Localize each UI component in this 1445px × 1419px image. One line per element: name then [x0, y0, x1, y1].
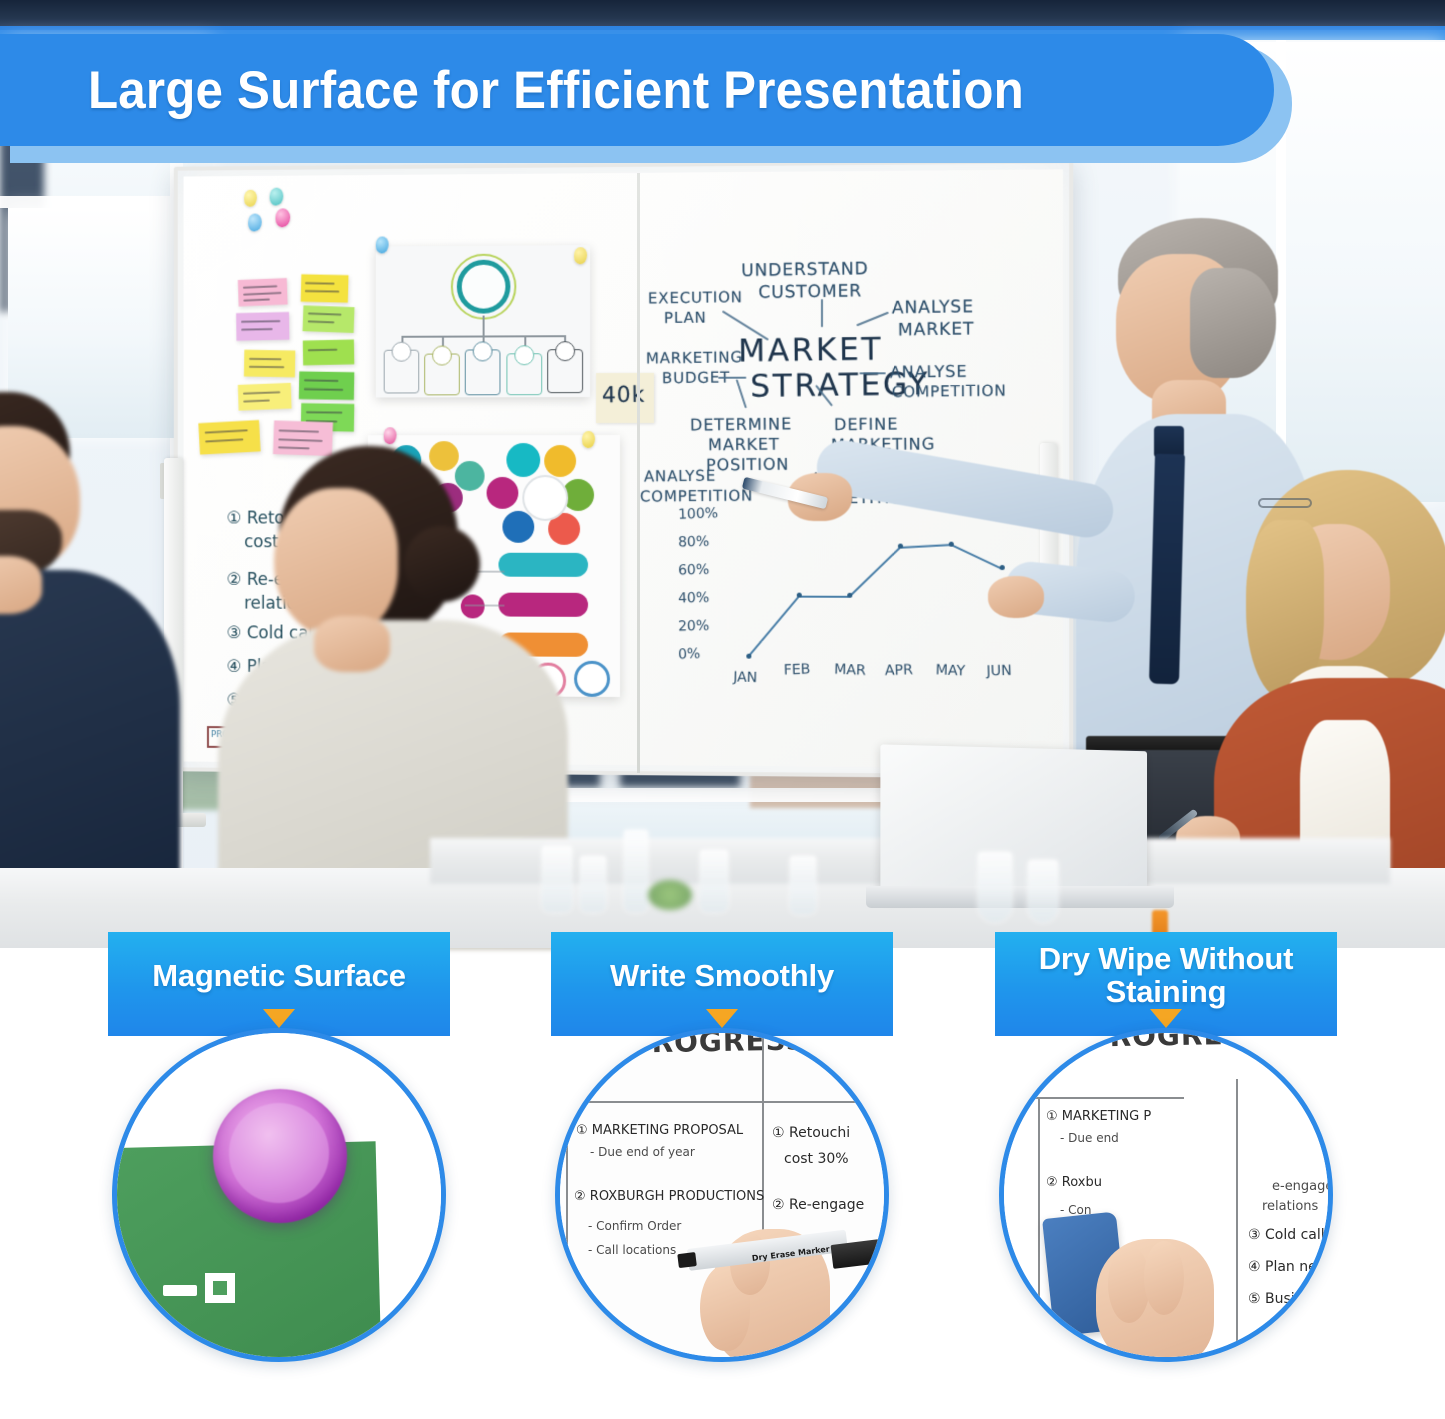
- eyeglasses-icon: [1258, 498, 1312, 508]
- chart-x-tick: MAY: [935, 662, 965, 679]
- water-bottle: [624, 830, 648, 912]
- chart-y-tick: 100%: [678, 505, 719, 522]
- chart-data-point: [746, 653, 751, 658]
- mindmap-node-determine-line1: DETERMINE: [690, 414, 792, 434]
- down-triangle-icon: [1150, 1009, 1182, 1028]
- write-line-2: - Due end of year: [590, 1145, 695, 1159]
- mindmap-node-analyse-market-line2: MARKET: [898, 319, 975, 340]
- sticky-note: [299, 371, 355, 400]
- chart-x-tick: APR: [884, 662, 913, 679]
- mindmap-node-marketing-budget-line1: MARKETING: [646, 348, 743, 367]
- mindmap-node-determine-line3: POSITION: [706, 455, 789, 475]
- mindmap-link-budget: [718, 377, 746, 379]
- erase-right-line-5: ⑤ Busin: [1248, 1291, 1304, 1307]
- magnet-pin-teal: [270, 188, 284, 206]
- wine-glass: [978, 852, 1012, 922]
- feature-dry-wipe: Dry Wipe Without Staining PROGRESS ① MAR…: [995, 932, 1337, 1036]
- orgchart-card-icon: [514, 345, 534, 365]
- table-rule-left-edge: [1038, 1097, 1040, 1362]
- whiteboard-panel-divider: [637, 173, 640, 773]
- mindmap-node-execution-plan-line1: EXECUTION: [648, 288, 743, 307]
- chart-x-tick: FEB: [783, 662, 810, 679]
- infographic-poster-orgchart: [376, 245, 590, 397]
- write-line-3: ② ROXBURGH PRODUCTIONS: [574, 1189, 764, 1204]
- mindmap-node-understand-customer-line1: UNDERSTAND: [741, 259, 869, 281]
- orgchart-card-icon: [392, 342, 412, 362]
- erase-right-line-4: ④ Plan ne: [1248, 1259, 1317, 1275]
- magnet-pin-blue: [248, 214, 262, 232]
- mindmap-link-analyse-market: [856, 312, 889, 327]
- laptop-screen: [880, 744, 1147, 897]
- chart-y-tick: 80%: [678, 534, 710, 551]
- erase-right-line-2: relations: [1262, 1199, 1318, 1214]
- erase-left-line-3: ② Roxbu: [1046, 1175, 1102, 1190]
- mindmap-node-analyse-competition-left-line1: ANALYSE: [644, 467, 716, 486]
- chart-data-point: [796, 593, 801, 598]
- feature-write-smoothly: Write Smoothly PROGRESS ① MARKETING PROP…: [551, 932, 893, 1036]
- presenter-tie-body: [1149, 454, 1185, 685]
- mindmap-node-determine-line2: MARKET: [708, 434, 780, 454]
- feature-title-drywipe: Dry Wipe Without Staining: [1005, 943, 1327, 1009]
- feature-title-magnetic: Magnetic Surface: [152, 960, 406, 993]
- orgchart-hub-outer-ring: [451, 254, 516, 320]
- chart-data-point: [948, 541, 953, 546]
- chart-y-tick: 20%: [678, 618, 710, 635]
- laptop-base: [866, 886, 1174, 908]
- erase-left-line-1: ① MARKETING P: [1046, 1109, 1151, 1124]
- magnet-pin-pink: [276, 208, 291, 227]
- mindmap-node-analyse-competition-right-line2: COMPETITION: [892, 381, 1007, 401]
- sticky-note: [238, 383, 292, 411]
- orgchart-trunk: [483, 316, 485, 338]
- sticky-note: [303, 339, 355, 365]
- write-right-line-1: ① Retouchi: [772, 1125, 850, 1141]
- feature-zoom-bubble-magnetic: [112, 1028, 446, 1362]
- erasing-detail-scene: PROGRESS ① MARKETING P - Due end ② Roxbu…: [1004, 1033, 1328, 1357]
- feature-zoom-bubble-drywipe: PROGRESS ① MARKETING P - Due end ② Roxbu…: [999, 1028, 1333, 1362]
- mindmap-node-understand-customer-line2: CUSTOMER: [758, 281, 862, 303]
- feature-title-write: Write Smoothly: [610, 960, 834, 993]
- sticky-note: [238, 278, 288, 307]
- dry-erase-marker-tip: [677, 1252, 697, 1268]
- write-line-4: - Confirm Order: [588, 1219, 681, 1233]
- orgchart-card-icon: [432, 346, 452, 366]
- erase-left-line-2: - Due end: [1060, 1131, 1119, 1145]
- mindmap-node-analyse-competition-right-line1: ANALYSE: [890, 362, 968, 382]
- wine-glass: [1028, 860, 1058, 922]
- writing-detail-scene: PROGRESS ① MARKETING PROPOSAL - Due end …: [560, 1033, 884, 1357]
- mindmap-link-competition-right: [859, 372, 885, 374]
- chart-x-tick: MAR: [834, 662, 866, 679]
- chart-line-segment: [748, 596, 800, 658]
- sticky-note: [303, 306, 355, 333]
- sticky-note: [301, 274, 349, 303]
- water-glass: [542, 846, 572, 912]
- erase-right-line-3: ③ Cold call: [1248, 1227, 1325, 1243]
- water-glass: [580, 856, 606, 912]
- header-banner: Large Surface for Efficient Presentation: [0, 34, 1274, 146]
- table-rule-vertical: [1236, 1079, 1238, 1362]
- market-strategy-mindmap: UNDERSTAND CUSTOMER EXECUTION PLAN ANALY…: [184, 169, 1063, 176]
- chart-y-tick: 40%: [678, 590, 710, 607]
- chart-data-point: [999, 565, 1004, 570]
- chart-line-segment: [849, 547, 901, 598]
- mindmap-node-execution-plan-line2: PLAN: [664, 308, 707, 327]
- feature-magnetic-surface: Magnetic Surface: [108, 932, 450, 1036]
- table-rule-horizontal: [560, 1101, 889, 1103]
- attendee-woman-neck: [314, 616, 390, 672]
- chart-line-segment: [900, 544, 951, 549]
- attendee-woman-face: [274, 488, 398, 638]
- chart-y-tick: 60%: [678, 562, 710, 579]
- feature-header-write: Write Smoothly: [551, 932, 893, 1036]
- sticky-note: [236, 312, 289, 341]
- mindmap-center-line1: MARKET: [738, 331, 883, 369]
- plant-decor: [648, 880, 692, 910]
- water-glass: [790, 856, 816, 914]
- magnet-pin-yellow: [244, 190, 257, 207]
- write-line-1: ① MARKETING PROPOSAL: [576, 1123, 743, 1138]
- badge-circle-blue: [574, 661, 610, 697]
- round-magnet-highlight: [229, 1103, 329, 1203]
- write-line-5: - Call locations: [588, 1243, 676, 1257]
- board-header-progress: PROGRESS: [630, 1028, 807, 1060]
- mindmap-node-define-line1: DEFINE: [834, 414, 898, 434]
- header-title: Large Surface for Efficient Presentation: [88, 60, 1024, 121]
- chart-data-point: [897, 544, 902, 549]
- chart-x-tick: JUN: [986, 663, 1012, 680]
- feature-zoom-bubble-write: PROGRESS ① MARKETING PROPOSAL - Due end …: [555, 1028, 889, 1362]
- attendee-left-man: [0, 370, 220, 930]
- down-triangle-icon: [706, 1009, 738, 1028]
- water-glass: [700, 850, 728, 912]
- whiteboard-line-chart: 100%80%60%40%20%0%JANFEBMARAPRMAYJUN: [674, 509, 1008, 691]
- mindmap-link-determine: [736, 379, 747, 408]
- chart-line-segment: [799, 595, 850, 597]
- handwritten-task-list: ① Retouching cost 30% ② Re-engage c rela…: [184, 169, 1063, 176]
- chart-x-tick: JAN: [733, 669, 758, 686]
- table-rule-left-edge: [566, 1101, 568, 1362]
- paper-square-center: [213, 1281, 227, 1295]
- write-right-line-3: ② Re-engage: [772, 1197, 864, 1213]
- erasing-hand-finger: [1144, 1241, 1184, 1315]
- magnet-detail-scene: [117, 1033, 441, 1357]
- erase-right-line-1: e-engage: [1272, 1179, 1333, 1194]
- chart-y-tick: 0%: [678, 646, 701, 663]
- attendee-woman-bun: [404, 526, 480, 602]
- write-right-line-2: cost 30%: [784, 1151, 849, 1167]
- presenter-lower-hand: [988, 576, 1044, 618]
- orgchart-card-icon: [473, 341, 493, 361]
- chart-data-point: [847, 593, 852, 598]
- table-rule-horizontal: [1034, 1097, 1184, 1099]
- sticky-note: [244, 350, 295, 377]
- chart-line-segment: [950, 544, 1002, 570]
- feature-header-magnetic: Magnetic Surface: [108, 932, 450, 1036]
- mindmap-node-analyse-market-line1: ANALYSE: [892, 297, 974, 318]
- presenter-sideburn: [1190, 268, 1276, 378]
- mindmap-node-analyse-competition-left-line2: COMPETITION: [640, 486, 753, 505]
- feature-header-drywipe: Dry Wipe Without Staining: [995, 932, 1337, 1036]
- orgchart-card-icon: [555, 341, 575, 361]
- down-triangle-icon: [263, 1009, 295, 1028]
- paper-dash-mark: [163, 1285, 197, 1296]
- mindmap-link-understand: [821, 299, 823, 327]
- sticky-note-cluster: [184, 169, 1063, 176]
